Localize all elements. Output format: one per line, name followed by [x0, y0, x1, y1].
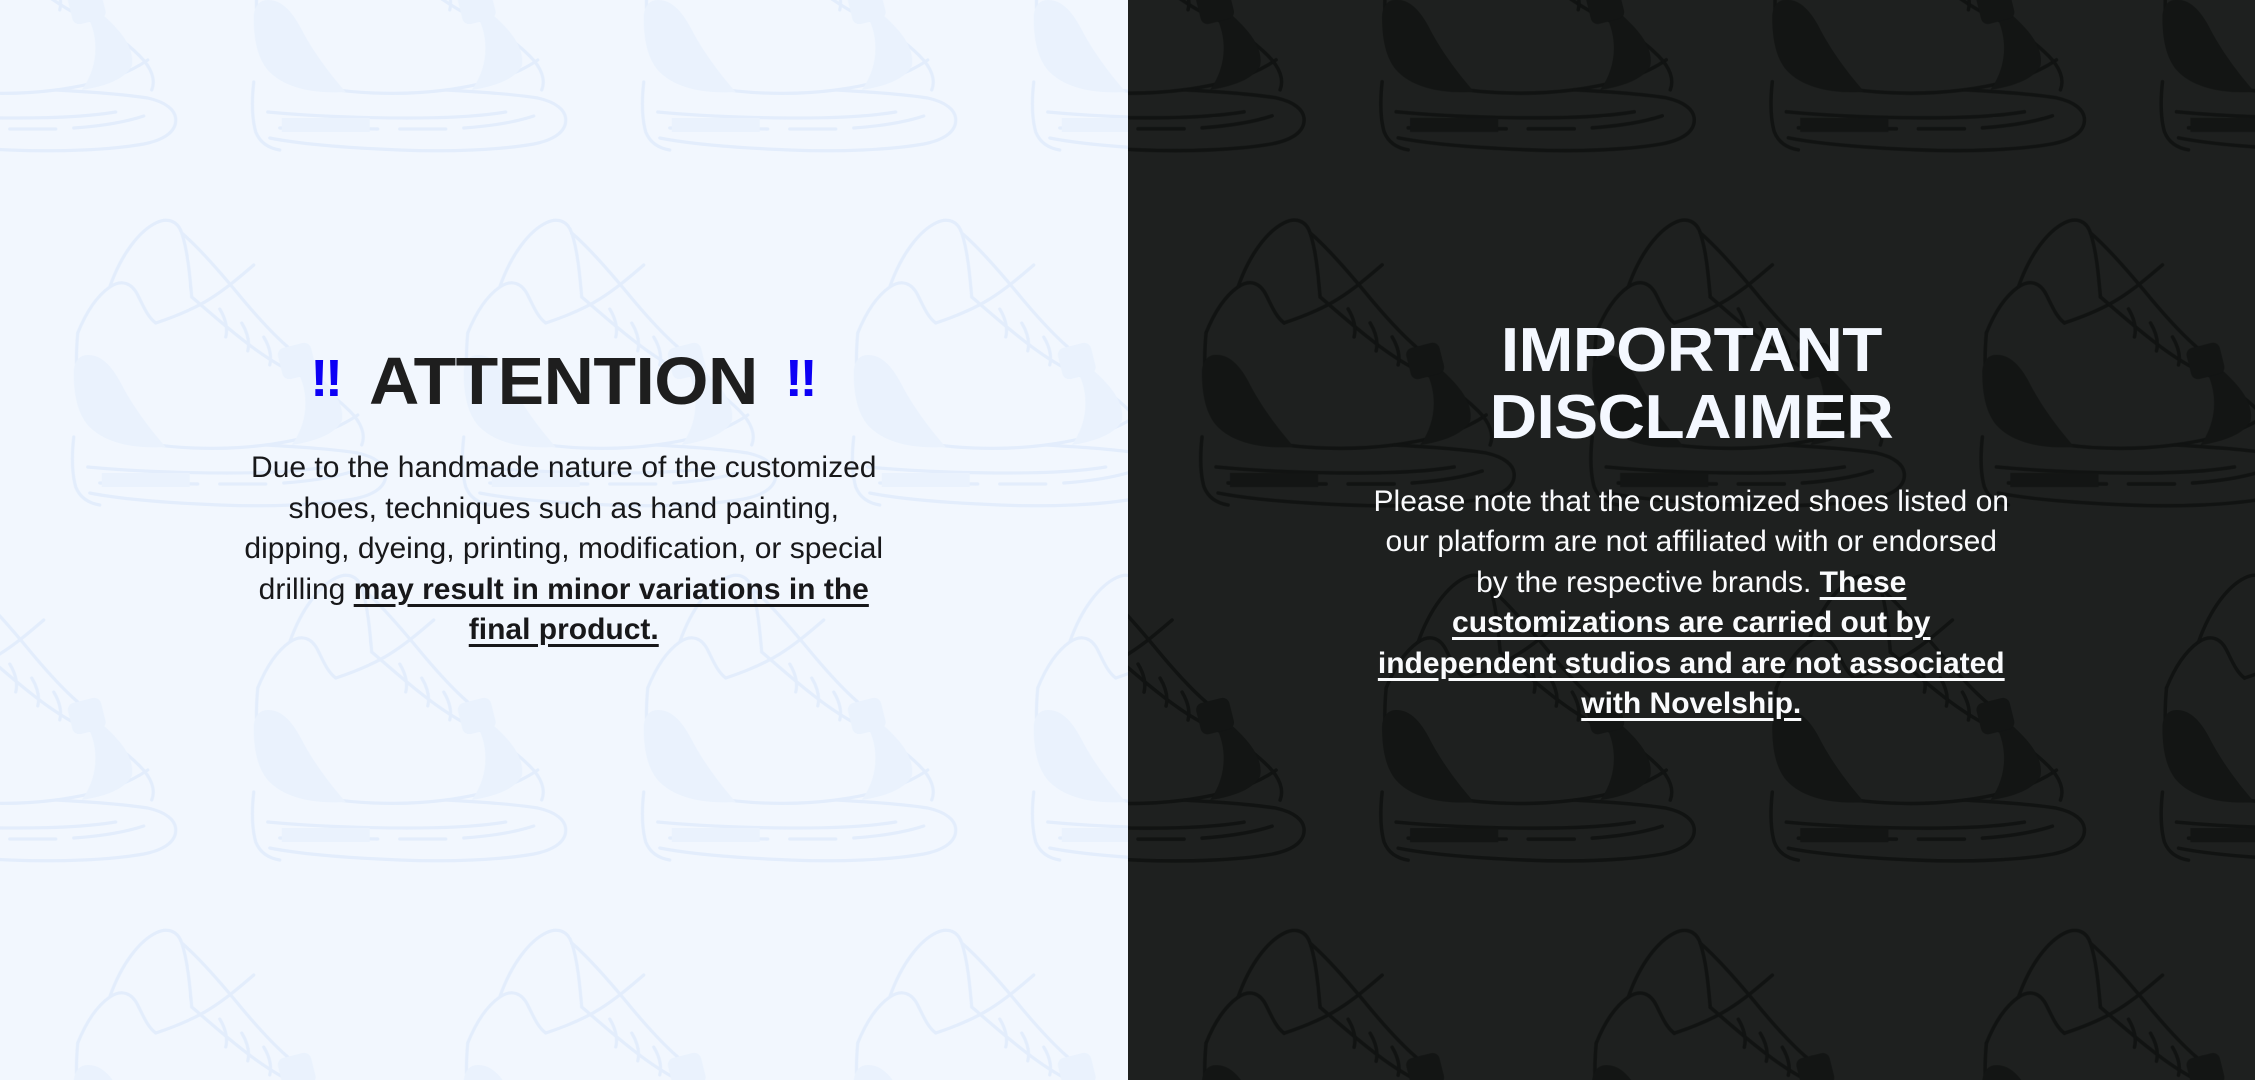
attention-body-emphasis: may result in minor variations in the fi…: [354, 573, 869, 647]
attention-panel: ‼ ATTENTION ‼ Due to the handmade nature…: [0, 0, 1128, 1080]
attention-content: ‼ ATTENTION ‼ Due to the handmade nature…: [0, 0, 1128, 651]
attention-body: Due to the handmade nature of the custom…: [244, 448, 884, 651]
disclaimer-panel: IMPORTANT DISCLAIMER Please note that th…: [1128, 0, 2255, 1080]
disclaimer-body: Please note that the customized shoes li…: [1371, 482, 2011, 725]
disclaimer-content: IMPORTANT DISCLAIMER Please note that th…: [1128, 0, 2255, 725]
double-exclamation-icon-left: ‼: [311, 353, 343, 405]
attention-heading: ‼ ATTENTION ‼: [311, 348, 817, 416]
disclaimer-heading: IMPORTANT DISCLAIMER: [1489, 318, 1893, 452]
disclaimer-heading-line1: IMPORTANT: [1489, 318, 1893, 385]
disclaimer-body-normal: Please note that the customized shoes li…: [1374, 485, 2009, 599]
attention-heading-text: ATTENTION: [369, 348, 758, 416]
disclaimer-heading-line2: DISCLAIMER: [1489, 385, 1893, 452]
double-exclamation-icon-right: ‼: [785, 353, 817, 405]
